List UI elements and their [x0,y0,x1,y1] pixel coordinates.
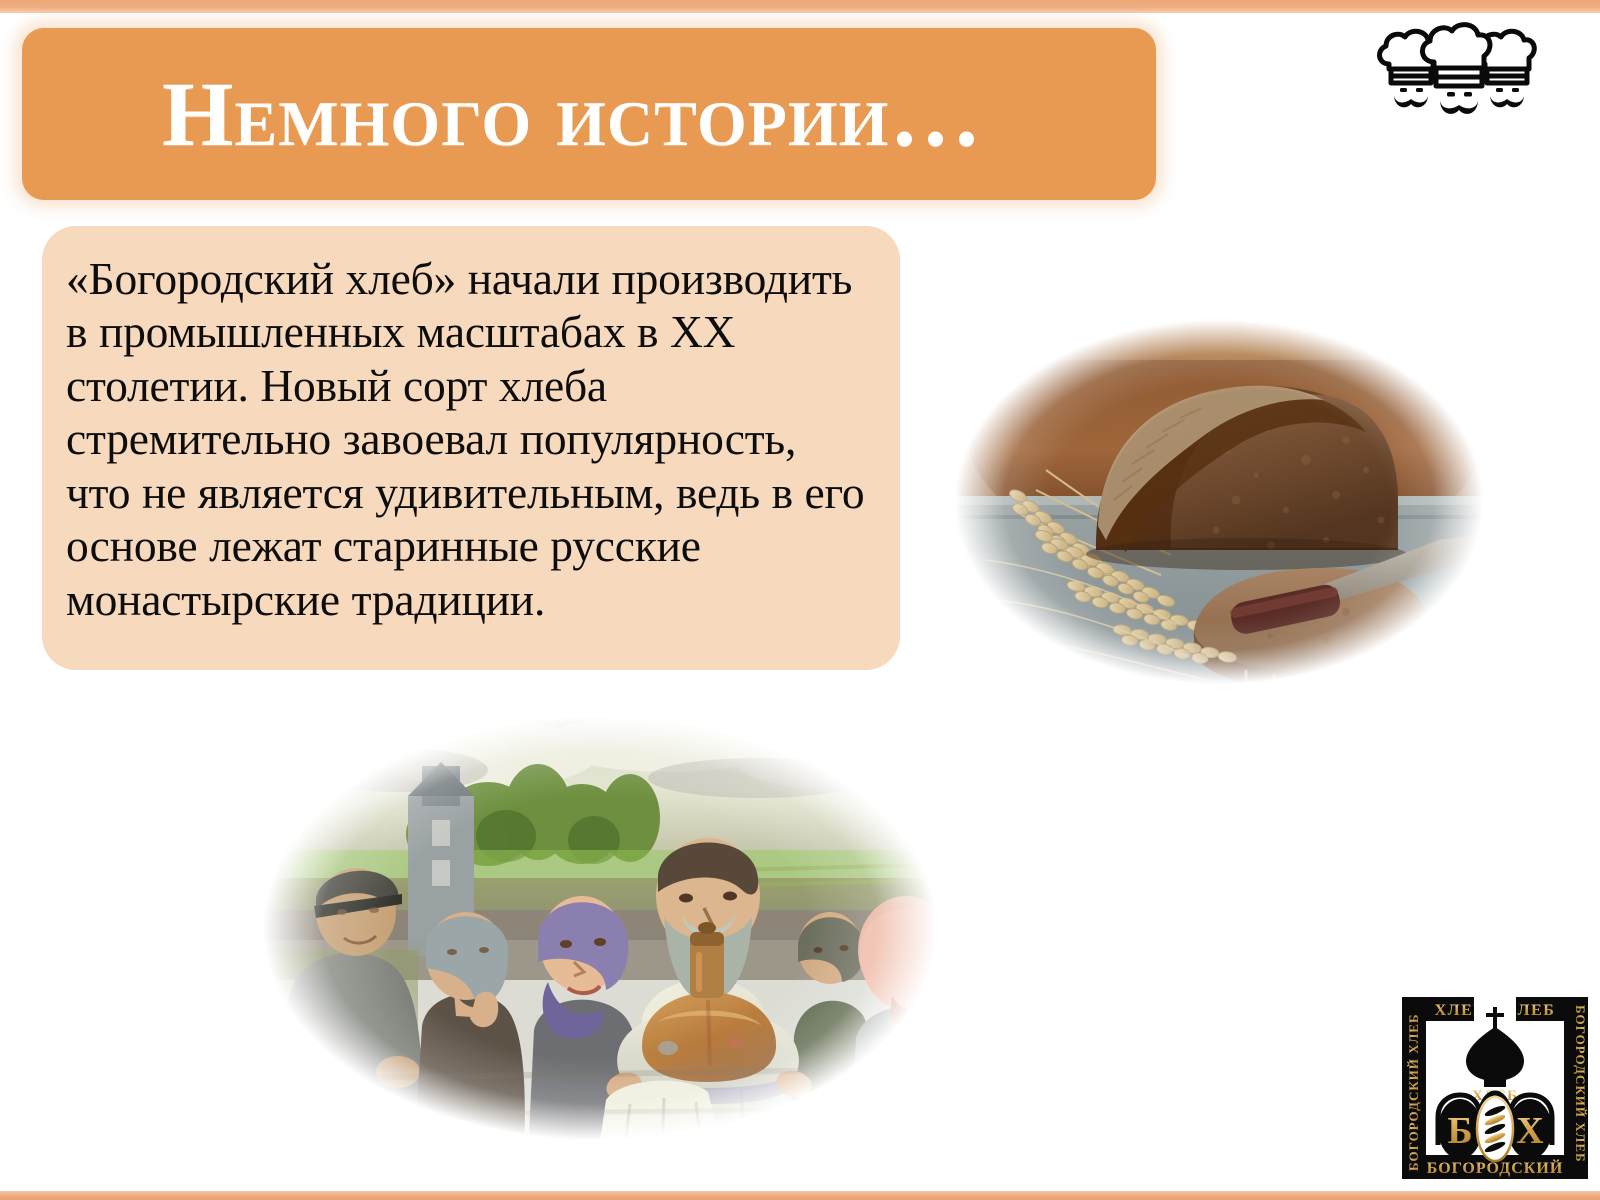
svg-text:БОГОРОДСКИЙ ХЛЕБ: БОГОРОДСКИЙ ХЛЕБ [1406,1013,1421,1171]
slide-root: Немного истории… [0,0,1600,1200]
svg-text:Б: Б [1447,1110,1472,1152]
top-accent-strip [0,0,1600,13]
rye-bread-photo [926,300,1512,704]
svg-text:Х: Х [1516,1110,1543,1152]
body-paragraph: «Богородский хлеб» начали производить в … [66,252,866,626]
svg-text:БОГОРОДСКИЙ ХЛЕБ: БОГОРОДСКИЙ ХЛЕБ [1573,1005,1588,1163]
body-text-panel: «Богородский хлеб» начали производить в … [42,226,900,670]
three-chef-hats-icon [1372,22,1542,118]
slide-title-bar: Немного истории… [22,28,1156,200]
page-title: Немного истории… [162,68,982,160]
village-bread-painting [238,700,962,1156]
bogorodsky-hleb-logo: ХЛЕБ ХЛЕБ БОГОРОДСКИЙ БОГОРОДСКИЙ ХЛЕБ Б… [1398,993,1592,1183]
bottom-accent-strip [0,1191,1600,1200]
